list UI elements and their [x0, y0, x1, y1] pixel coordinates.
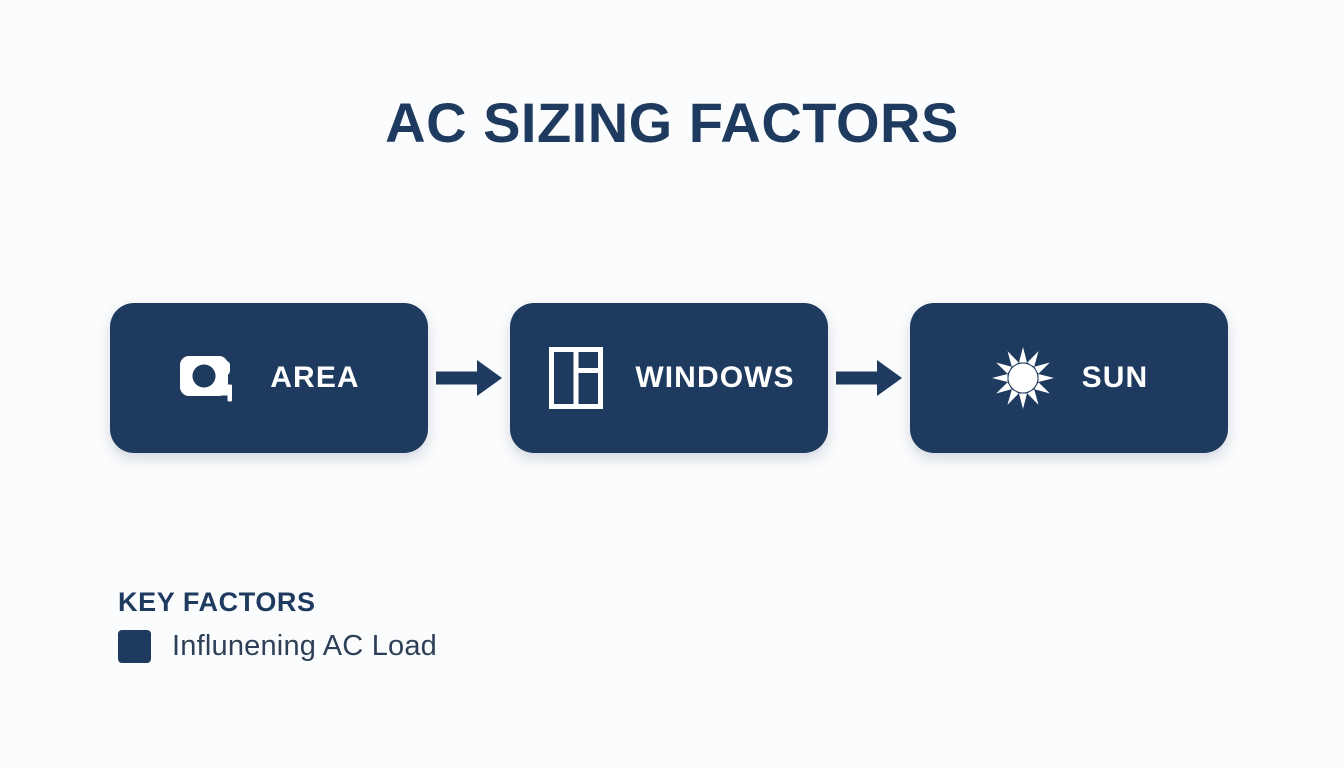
tape-measure-icon [178, 345, 244, 411]
factor-card-sun[interactable]: SUN [910, 303, 1228, 453]
factor-card-windows[interactable]: WINDOWS [510, 303, 828, 453]
legend-entry-label: Influnening AC Load [172, 630, 437, 663]
arrow-right-icon [836, 358, 902, 398]
legend-title: KEY FACTORS [118, 586, 718, 618]
factor-card-label-sun: SUN [1082, 361, 1149, 395]
legend-color-swatch [118, 630, 151, 663]
page-title: AC SIZING FACTORS [0, 92, 1344, 154]
sun-icon [990, 345, 1056, 411]
legend-entry: Influnening AC Load [118, 630, 718, 663]
arrow-right-icon [436, 358, 502, 398]
factor-flow: AREA WINDOWS [110, 303, 1228, 453]
factor-card-label-area: AREA [270, 361, 359, 395]
factor-card-area[interactable]: AREA [110, 303, 428, 453]
window-icon [543, 345, 609, 411]
legend: KEY FACTORS Influnening AC Load [118, 586, 718, 663]
factor-card-label-windows: WINDOWS [635, 361, 794, 395]
